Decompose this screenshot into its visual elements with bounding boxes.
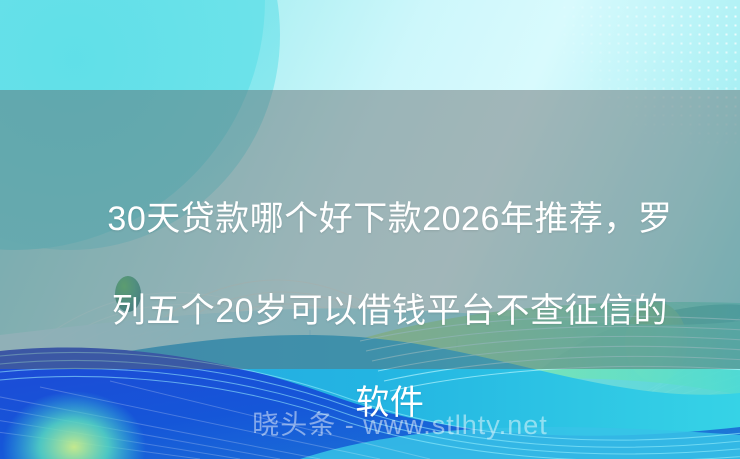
halftone-dots-icon bbox=[560, 0, 740, 144]
poster-canvas: 30天贷款哪个好下款2026年推荐，罗 列五个20岁可以借钱平台不查征信的 软件… bbox=[0, 0, 740, 459]
title-line-1: 30天贷款哪个好下款2026年推荐，罗 bbox=[107, 200, 672, 238]
title-line-2: 列五个20岁可以借钱平台不查征信的 bbox=[112, 292, 668, 330]
site-watermark: 晓头条 - www.stlhty.net bbox=[0, 403, 740, 442]
